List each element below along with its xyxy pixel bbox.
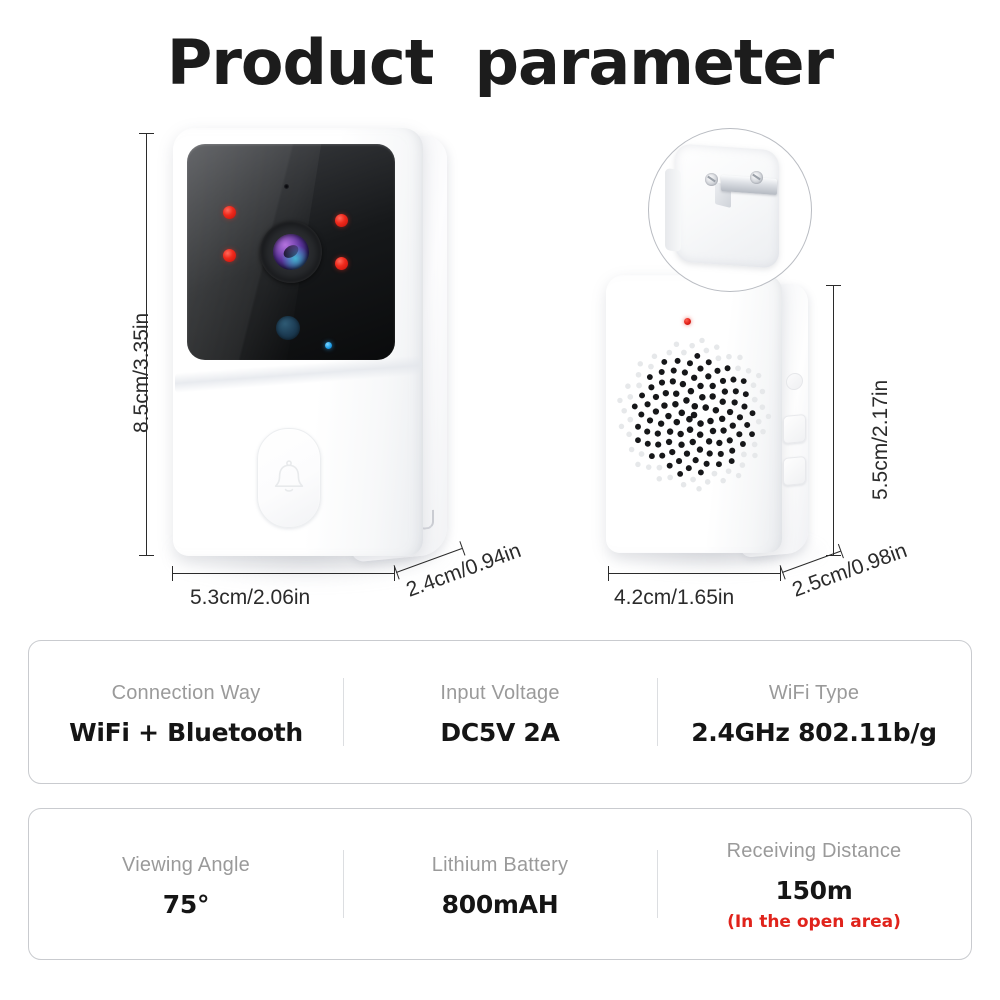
spec-value: 2.4GHz 802.11b/g [657, 718, 971, 747]
dimension-tick [172, 566, 173, 581]
spec-value: DC5V 2A [343, 718, 657, 747]
chime-height-label: 5.5cm/2.17in [869, 380, 893, 500]
spec-label: Receiving Distance [657, 840, 971, 863]
spec-note: (In the open area) [657, 912, 971, 932]
screw-icon [750, 171, 763, 184]
doorbell-front-glass-panel [187, 144, 395, 360]
spec-value: 75° [29, 890, 343, 919]
lens-iris [273, 234, 309, 270]
dimension-tick [139, 555, 154, 556]
spec-item-connection-way: Connection Way WiFi + Bluetooth [29, 678, 343, 747]
spec-card-row-1: Connection Way WiFi + Bluetooth Input Vo… [28, 640, 972, 784]
spec-label: Lithium Battery [343, 854, 657, 877]
microphone-pinhole-icon [284, 184, 289, 189]
ir-led-icon [223, 249, 236, 262]
bell-button-icon[interactable] [257, 428, 321, 528]
spec-columns: Connection Way WiFi + Bluetooth Input Vo… [29, 641, 971, 783]
spec-label: Connection Way [29, 682, 343, 705]
volume-up-button-icon[interactable] [783, 414, 806, 444]
spec-item-input-voltage: Input Voltage DC5V 2A [343, 678, 657, 747]
pir-sensor-icon [276, 316, 300, 340]
spec-value: 150m [657, 876, 971, 905]
spec-card-row-2: Viewing Angle 75° Lithium Battery 800mAH… [28, 808, 972, 960]
dimension-tick [608, 566, 609, 581]
doorbell-width-dimension-line [172, 573, 394, 574]
doorbell-width-label: 5.3cm/2.06in [190, 586, 310, 610]
camera-lens-icon [260, 221, 322, 283]
chime-height-dimension-line [833, 285, 834, 555]
dimension-tick [139, 133, 154, 134]
spec-item-receiving-distance: Receiving Distance 150m (In the open are… [657, 836, 971, 932]
ir-led-icon [335, 214, 348, 227]
spec-label: WiFi Type [657, 682, 971, 705]
volume-down-button-icon[interactable] [783, 456, 806, 486]
speaker-grille-icon [612, 333, 776, 497]
ir-led-icon [335, 257, 348, 270]
spec-label: Input Voltage [343, 682, 657, 705]
chime-receiver-illustration [600, 275, 850, 580]
doorbell-height-label: 8.5cm/3.35in [130, 313, 154, 433]
dimension-tick [826, 285, 841, 286]
status-led-icon [684, 318, 691, 325]
spec-value: 800mAH [343, 890, 657, 919]
ir-led-icon [223, 206, 236, 219]
spec-item-lithium-battery: Lithium Battery 800mAH [343, 850, 657, 919]
page-title: Product parameter [0, 26, 1000, 99]
screw-icon [705, 173, 718, 186]
chime-width-label: 4.2cm/1.65in [614, 586, 734, 610]
spec-columns: Viewing Angle 75° Lithium Battery 800mAH… [29, 809, 971, 959]
product-illustration: 8.5cm/3.35in 5.3cm/2.06in 2.4cm/0.94in [0, 100, 1000, 630]
chime-width-dimension-line [608, 573, 780, 574]
spec-item-viewing-angle: Viewing Angle 75° [29, 850, 343, 919]
ac-plug-inset-callout [648, 128, 812, 292]
video-doorbell-illustration [165, 120, 457, 580]
spec-label: Viewing Angle [29, 854, 343, 877]
spec-value: WiFi + Bluetooth [29, 718, 343, 747]
status-led-icon [325, 342, 332, 349]
chime-rear-edge [665, 168, 681, 252]
spec-item-wifi-type: WiFi Type 2.4GHz 802.11b/g [657, 678, 971, 747]
